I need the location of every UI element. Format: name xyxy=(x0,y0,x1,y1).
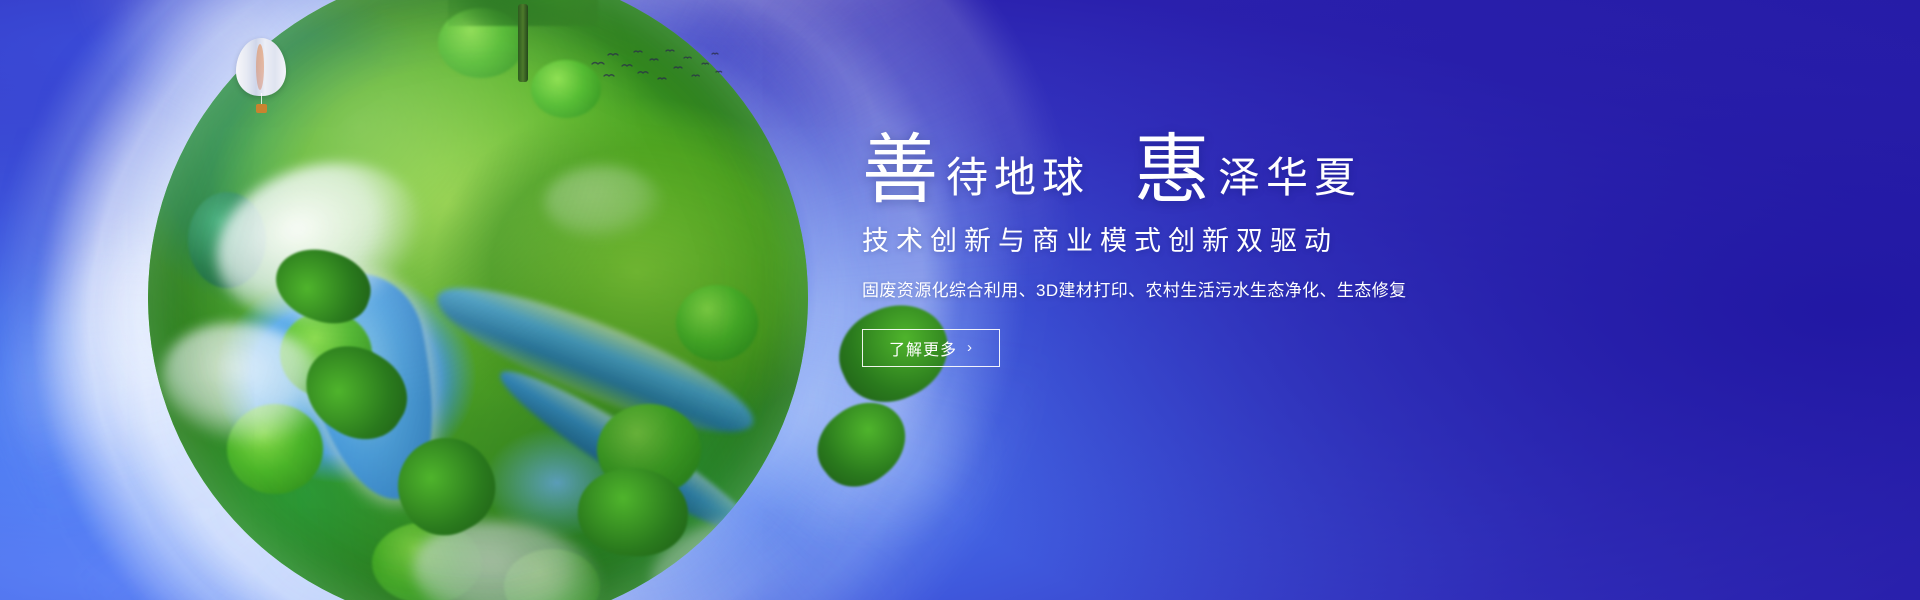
hero-banner: 善 待地球 惠 泽华夏 技术创新与商业模式创新双驱动 固废资源化综合利用、3D建… xyxy=(0,0,1920,600)
learn-more-button[interactable]: 了解更多 › xyxy=(862,329,1000,367)
headline-rest-2: 泽华夏 xyxy=(1218,157,1362,199)
subtitle: 技术创新与商业模式创新双驱动 xyxy=(862,224,1562,259)
headline-char-1: 善 xyxy=(862,132,938,208)
hero-copy: 善 待地球 惠 泽华夏 技术创新与商业模式创新双驱动 固废资源化综合利用、3D建… xyxy=(862,132,1562,367)
hot-air-balloon-icon xyxy=(236,38,290,122)
page-title: 善 待地球 惠 泽华夏 xyxy=(862,132,1562,208)
learn-more-label: 了解更多 xyxy=(889,336,957,360)
tree-icon xyxy=(448,0,598,82)
headline-rest-1: 待地球 xyxy=(946,157,1090,199)
description: 固废资源化综合利用、3D建材打印、农村生活污水生态净化、生态修复 xyxy=(862,279,1562,303)
tree-trunk xyxy=(518,4,528,82)
bird-flock-icon xyxy=(588,46,728,92)
balloon-basket xyxy=(256,104,267,113)
headline-char-2: 惠 xyxy=(1134,132,1210,208)
balloon-stripe xyxy=(256,44,264,90)
chevron-right-icon: › xyxy=(967,340,973,355)
